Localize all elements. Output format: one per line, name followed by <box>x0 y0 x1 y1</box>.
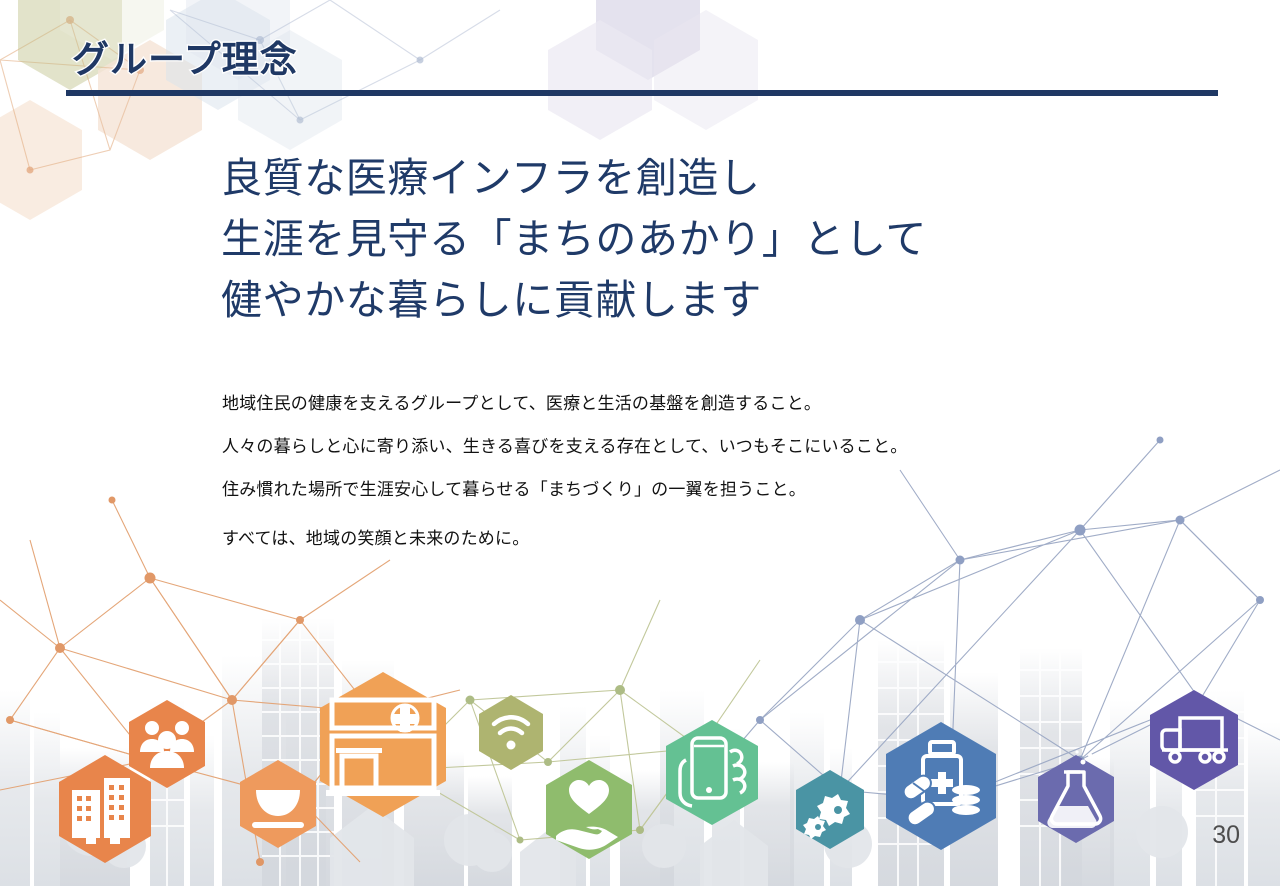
page-number: 30 <box>1212 821 1240 850</box>
page-title: グループ理念 <box>72 29 298 83</box>
delivery-truck-icon <box>1150 690 1238 790</box>
bowl-icon <box>240 760 316 848</box>
slide-header: グループ理念 <box>0 0 1280 110</box>
clinic-icon <box>320 672 446 817</box>
philosophy-body: 地域住民の健康を支えるグループとして、医療と生活の基盤を創造すること。 人々の暮… <box>222 395 907 573</box>
slide: グループ理念 良質な医療インフラを創造し 生涯を見守る「まちのあかり」として 健… <box>0 0 1280 886</box>
body-paragraph-2: 人々の暮らしと心に寄り添い、生きる喜びを支える存在として、いつもそこにいること。 <box>222 438 907 455</box>
people-group-icon <box>129 700 205 788</box>
philosophy-headline: 良質な医療インフラを創造し 生涯を見守る「まちのあかり」として 健やかな暮らしに… <box>221 148 927 331</box>
headline-line-3: 健やかな暮らしに貢献します <box>221 270 927 331</box>
body-paragraph-4: すべては、地域の笑顔と未来のために。 <box>222 530 907 547</box>
smartphone-hand-icon <box>666 720 758 825</box>
title-divider <box>66 90 1218 96</box>
headline-line-2: 生涯を見守る「まちのあかり」として <box>221 209 927 270</box>
buildings-icon <box>59 755 151 863</box>
body-paragraph-1: 地域住民の健康を支えるグループとして、医療と生活の基盤を創造すること。 <box>222 395 907 412</box>
heart-in-hand-icon <box>546 760 632 859</box>
gears-icon <box>796 770 864 849</box>
medicine-icon <box>886 722 996 850</box>
headline-line-1: 良質な医療インフラを創造し <box>221 148 927 209</box>
body-paragraph-3: 住み慣れた場所で生涯安心して暮らせる「まちづくり」の一翼を担うこと。 <box>222 481 907 498</box>
wifi-icon <box>479 695 543 770</box>
lab-flask-icon <box>1038 750 1114 843</box>
